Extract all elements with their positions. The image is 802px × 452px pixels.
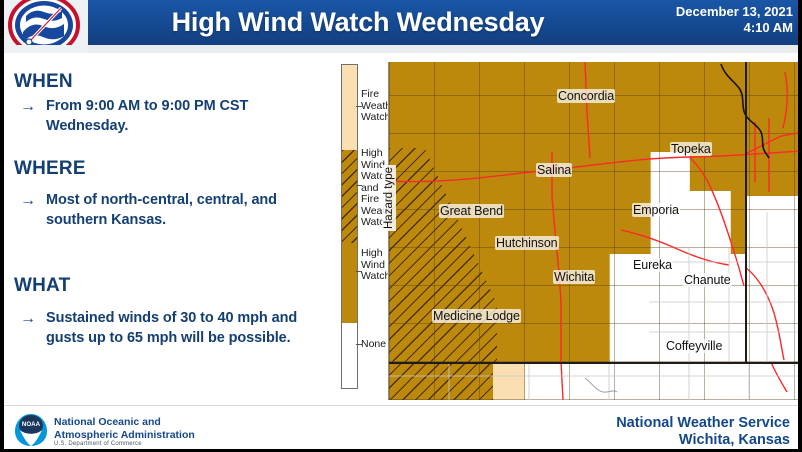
arrow-icon: → (14, 97, 46, 116)
highway-lines (389, 62, 802, 400)
state-border-east (745, 62, 747, 362)
noaa-agency-name: National Oceanic and Atmospheric Adminis… (54, 416, 195, 441)
legend-label-high-wind-watch: High Wind Watch (361, 248, 390, 283)
city-label-salina: Salina (536, 163, 572, 177)
header-divider-left (0, 45, 88, 53)
page-title: High Wind Watch Wednesday (88, 0, 628, 45)
footer-bar: NOAA National Oceanic and Atmospheric Ad… (0, 405, 802, 452)
bullet-text-what: Sustained winds of 30 to 40 mph and gust… (46, 309, 314, 348)
legend-swatch-high-wind-and-fire-weather-watch (342, 150, 357, 243)
header-divider (0, 45, 802, 53)
city-label-emporia: Emporia (632, 203, 680, 217)
section-heading-where: WHERE (14, 158, 86, 180)
city-label-eureka: Eureka (632, 258, 673, 272)
border-left (0, 0, 4, 452)
bullet-text-where: Most of north-central, central, and sout… (46, 191, 314, 230)
bullet-text-when: From 9:00 AM to 9:00 PM CST Wednesday. (46, 97, 314, 136)
city-label-hutchinson: Hutchinson (495, 236, 559, 250)
office-location: Wichita, Kansas (616, 432, 790, 449)
city-label-medicine-lodge: Medicine Lodge (432, 309, 521, 323)
office-name: National Weather Service (616, 415, 790, 432)
border-right (798, 0, 802, 452)
noaa-department: U.S. Department of Commerce (54, 441, 142, 447)
noaa-wordmark: NOAA (22, 421, 41, 428)
bullet-when: → From 9:00 AM to 9:00 PM CST Wednesday. (14, 97, 314, 136)
city-label-concordia: Concordia (557, 89, 615, 103)
noaa-line-1: National Oceanic and (54, 416, 195, 429)
city-label-chanute: Chanute (683, 273, 732, 287)
arrow-icon: → (14, 191, 46, 210)
city-label-coffeyville: Coffeyville (665, 339, 723, 353)
city-label-wichita: Wichita (553, 270, 595, 284)
bullet-what: → Sustained winds of 30 to 40 mph and gu… (14, 309, 314, 348)
arrow-icon: → (14, 309, 46, 328)
noaa-logo-icon: NOAA (14, 413, 48, 447)
hazard-legend-colorbar (341, 64, 358, 389)
noaa-line-2: Atmospheric Administration (54, 429, 195, 442)
state-border-south (389, 362, 802, 364)
legend-swatch-none (342, 323, 357, 388)
weather-graphic: High Wind Watch Wednesday December 13, 2… (0, 0, 802, 452)
legend-axis-title: Hazard type (382, 165, 396, 231)
header-datetime: December 13, 2021 4:10 AM (593, 4, 793, 36)
issuing-office: National Weather Service Wichita, Kansas (616, 415, 790, 449)
section-heading-when: WHEN (14, 71, 73, 93)
hazard-map-panel: Fire Weather Watch High Wind Watch and F… (330, 53, 802, 405)
header-time: 4:10 AM (593, 20, 793, 36)
city-label-topeka: Topeka (670, 142, 712, 156)
hazard-map[interactable]: Concordia Topeka Salina Great Bend Empor… (388, 62, 802, 400)
section-heading-what: WHAT (14, 275, 70, 297)
details-panel: WHEN → From 9:00 AM to 9:00 PM CST Wedne… (0, 53, 330, 405)
bullet-where: → Most of north-central, central, and so… (14, 191, 314, 230)
header-bar: High Wind Watch Wednesday December 13, 2… (0, 0, 802, 45)
city-label-great-bend: Great Bend (439, 204, 504, 218)
legend-swatch-fire-weather-watch (342, 65, 357, 150)
header-date: December 13, 2021 (593, 4, 793, 20)
legend-swatch-high-wind-watch (342, 243, 357, 323)
legend-label-none: None (361, 339, 386, 351)
